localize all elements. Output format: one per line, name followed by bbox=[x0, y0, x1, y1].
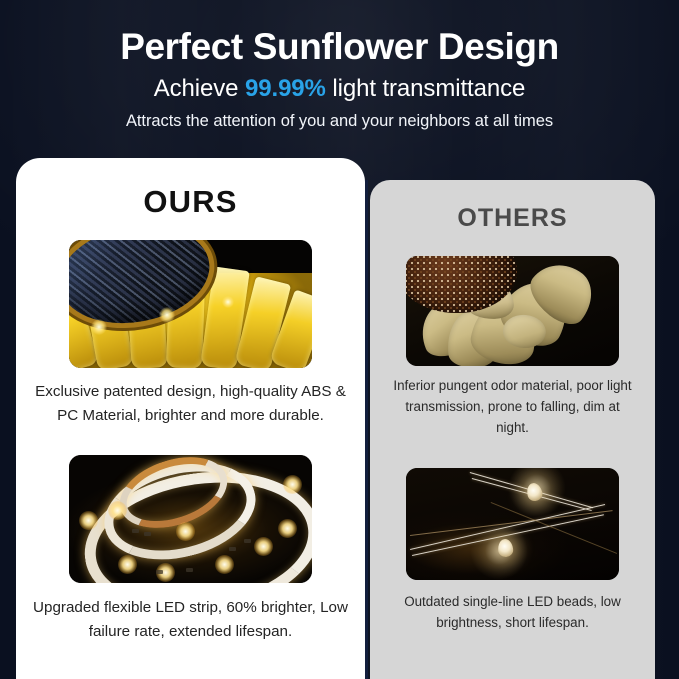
infographic-canvas: Perfect Sunflower Design Achieve 99.99% … bbox=[0, 0, 679, 679]
ours-caption-1: Exclusive patented design, high-quality … bbox=[30, 380, 351, 427]
sunflower-solar-panel-closeup-image bbox=[69, 240, 312, 368]
transmittance-value: 99.99% bbox=[245, 75, 326, 102]
others-caption-1: Inferior pungent odor material, poor lig… bbox=[390, 376, 635, 438]
single-line-led-beads-image bbox=[406, 468, 619, 580]
subtitle: Achieve 99.99% light transmittance bbox=[0, 66, 679, 103]
ours-panel-title: OURS bbox=[16, 184, 365, 220]
seed-texture bbox=[406, 256, 517, 313]
flexible-led-strip-coil-image bbox=[69, 455, 312, 583]
led-glow bbox=[159, 307, 175, 323]
others-panel-title: OTHERS bbox=[370, 204, 655, 233]
header-block: Perfect Sunflower Design Achieve 99.99% … bbox=[0, 0, 679, 131]
ours-panel: OURS Exclusive patented design, high-qua… bbox=[16, 158, 365, 679]
subtitle-post: light transmittance bbox=[326, 75, 525, 102]
page-title: Perfect Sunflower Design bbox=[0, 0, 679, 66]
sunflower-seed-center bbox=[406, 256, 517, 313]
dull-sunflower-closeup-image bbox=[406, 256, 619, 366]
ours-caption-2: Upgraded flexible LED strip, 60% brighte… bbox=[30, 596, 351, 643]
others-caption-2: Outdated single-line LED beads, low brig… bbox=[390, 592, 635, 634]
others-panel: OTHERS Inferior pungent odor material, p… bbox=[370, 180, 655, 679]
subtitle-pre: Achieve bbox=[154, 75, 245, 102]
tagline: Attracts the attention of you and your n… bbox=[0, 103, 679, 131]
